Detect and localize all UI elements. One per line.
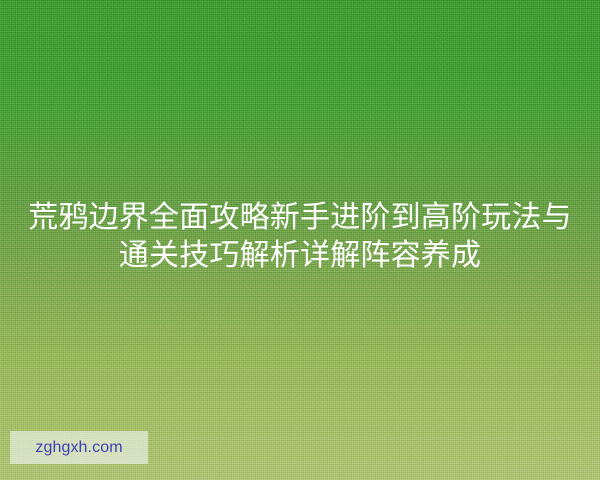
watermark-badge: zghgxh.com — [10, 431, 148, 464]
cover-canvas: 荒鸦边界全面攻略新手进阶到高阶玩法与通关技巧解析详解阵容养成 zghgxh.co… — [0, 0, 600, 480]
watermark-label: zghgxh.com — [35, 440, 122, 456]
page-title: 荒鸦边界全面攻略新手进阶到高阶玩法与通关技巧解析详解阵容养成 — [0, 199, 600, 275]
